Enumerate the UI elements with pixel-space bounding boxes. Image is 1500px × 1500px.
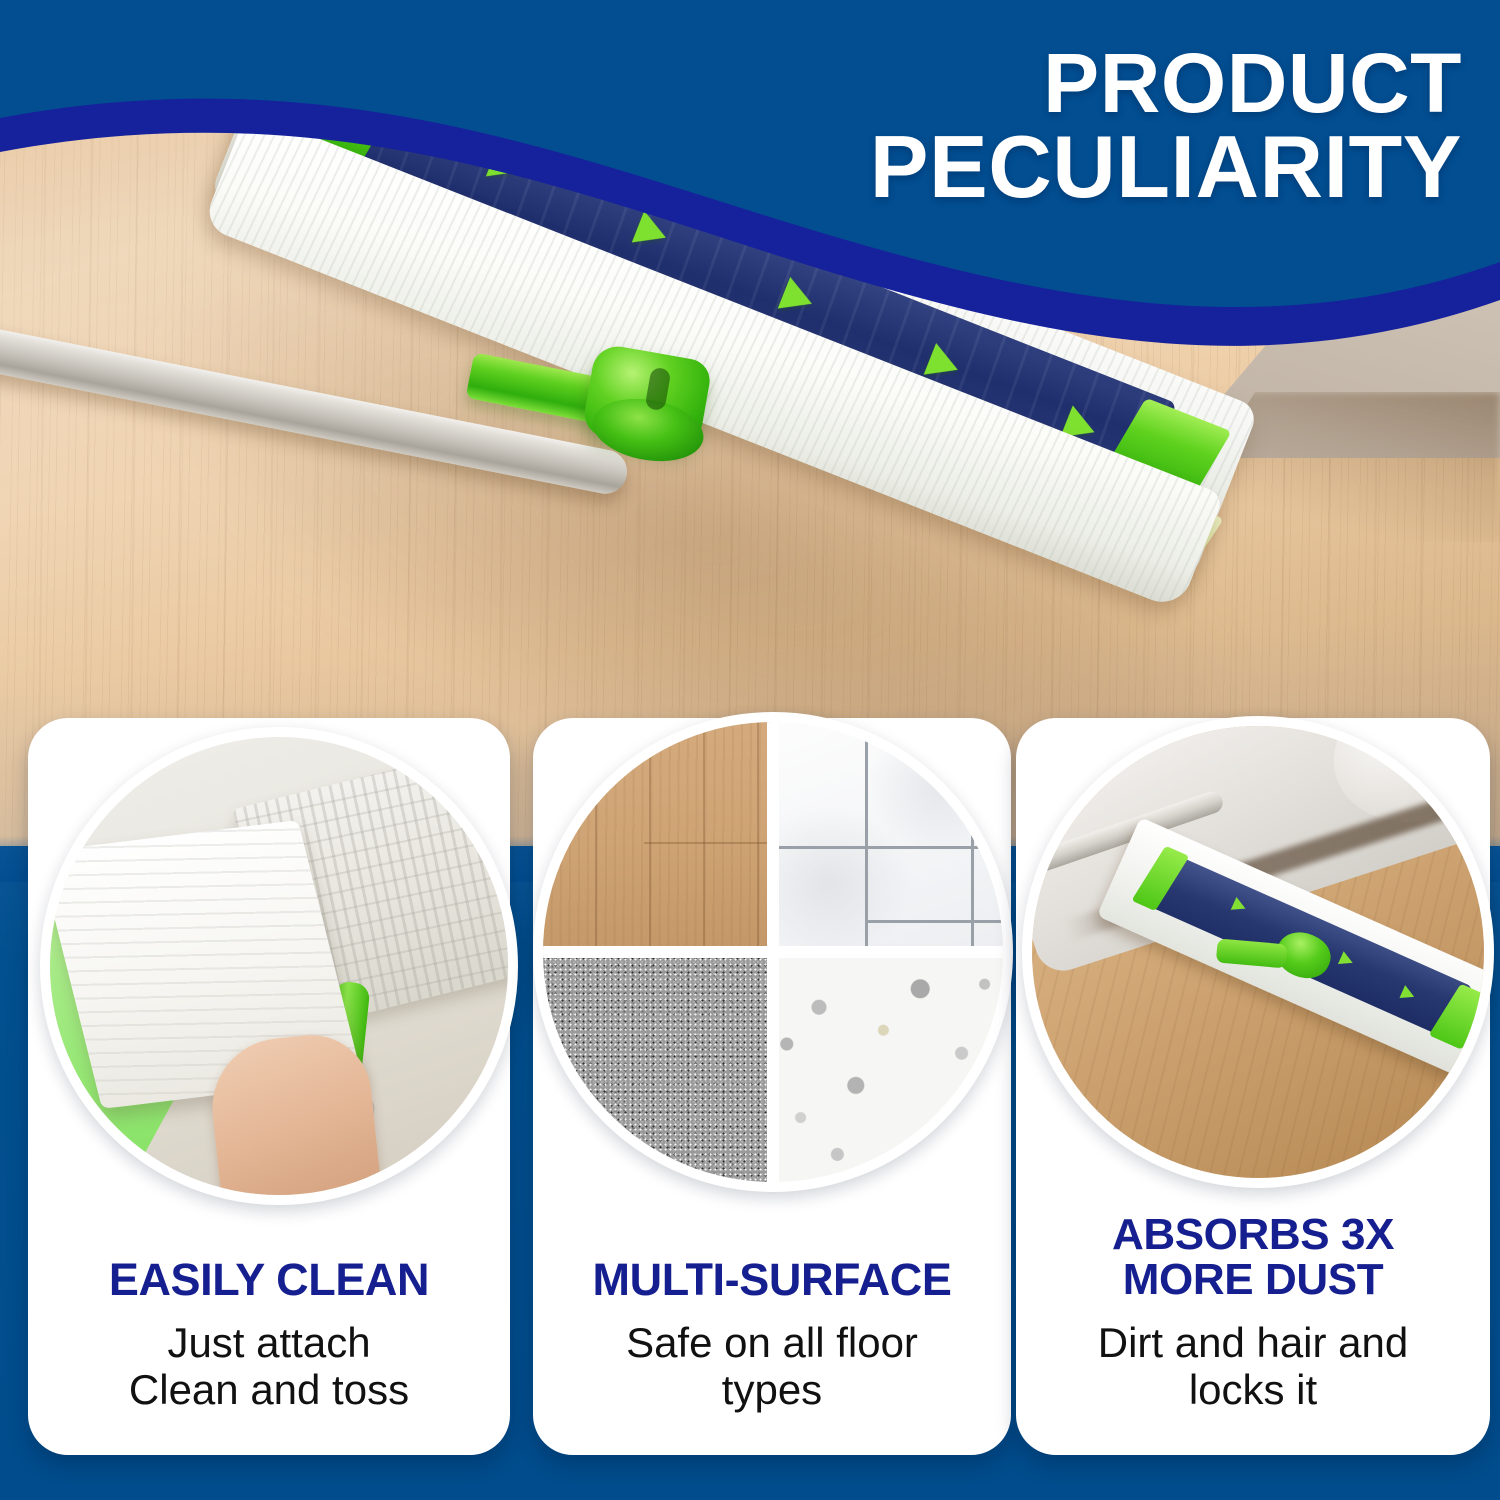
circle-photo	[50, 737, 508, 1195]
terrazzo-texture	[773, 952, 1003, 1182]
card-title: EASILY CLEAN	[44, 1257, 494, 1303]
surface-quadrant-marble	[773, 722, 1003, 952]
grout-line	[865, 920, 1003, 923]
wood-floor-texture	[543, 722, 773, 952]
card-image-absorbs-dust	[1022, 716, 1494, 1188]
infographic-stage: PRODUCT PECULIARITY EASILY CLEAN Just at…	[0, 0, 1500, 1500]
card-text-block: MULTI-SURFACE Safe on all floor types	[533, 1257, 1011, 1413]
card-body: Dirt and hair and locks it	[1032, 1319, 1474, 1413]
quadrant-divider-horizontal	[543, 946, 1003, 958]
card-body: Safe on all floor types	[549, 1319, 995, 1413]
granite-texture	[543, 952, 773, 1182]
feature-cards: EASILY CLEAN Just attach Clean and toss …	[0, 0, 1500, 1500]
card-body: Just attach Clean and toss	[44, 1319, 494, 1413]
surface-quadrant-wood	[543, 722, 773, 952]
grout-line	[971, 782, 974, 952]
circle-photo	[543, 722, 1003, 1182]
card-title: ABSORBS 3X MORE DUST	[1032, 1213, 1474, 1303]
card-image-easily-clean	[40, 727, 518, 1205]
circle-photo	[1032, 726, 1484, 1178]
card-text-block: ABSORBS 3X MORE DUST Dirt and hair and l…	[1016, 1213, 1490, 1413]
grout-line	[865, 722, 868, 952]
card-text-block: EASILY CLEAN Just attach Clean and toss	[28, 1257, 510, 1413]
grout-line	[773, 846, 1003, 849]
surface-quadrant-granite	[543, 952, 773, 1182]
surface-quadrant-terrazzo	[773, 952, 1003, 1182]
card-image-multi-surface	[533, 712, 1013, 1192]
marble-tile-texture	[773, 722, 1003, 952]
card-title: MULTI-SURFACE	[549, 1257, 995, 1303]
